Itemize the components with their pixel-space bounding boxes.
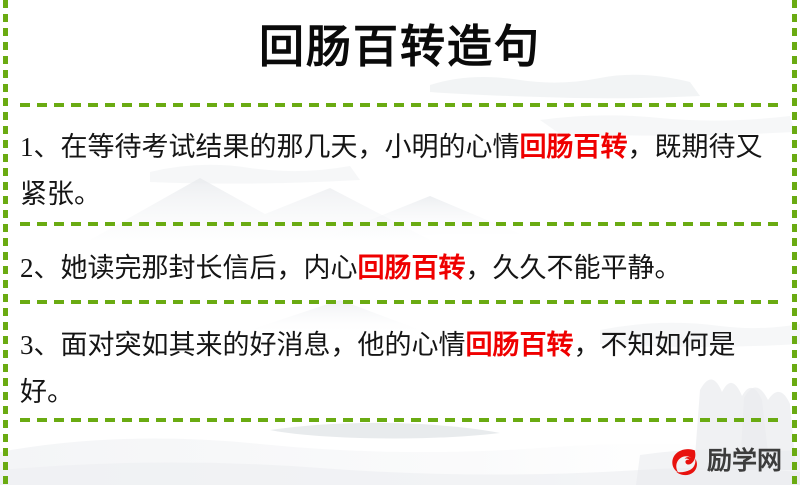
sentence-item-3: 3、面对突如其来的好消息，他的心情回肠百转，不知如何是好。 (20, 322, 782, 415)
idiom-highlight-1: 回肠百转 (520, 132, 628, 163)
separator-bottom (20, 418, 780, 422)
page-root: 回肠百转造句 1、在等待考试结果的那几天，小明的心情回肠百转，既期待又紧张。 2… (0, 0, 800, 485)
sentence-index-1: 1、 (20, 132, 61, 162)
sentence-item-1: 1、在等待考试结果的那几天，小明的心情回肠百转，既期待又紧张。 (20, 124, 782, 217)
separator-2 (20, 300, 780, 304)
page-title: 回肠百转造句 (0, 18, 800, 76)
watermark-logo: 励学网 (668, 444, 782, 478)
watermark-site-name: 励学网 (707, 447, 782, 475)
sentence-text-before-2: 她读完那封长信后，内心 (61, 253, 358, 283)
idiom-highlight-3: 回肠百转 (466, 330, 574, 361)
sentence-text-before-3: 面对突如其来的好消息，他的心情 (61, 330, 466, 360)
flame-swirl-icon (668, 444, 702, 478)
sentence-text-before-1: 在等待考试结果的那几天，小明的心情 (61, 132, 520, 162)
sentence-text-after-2: ，久久不能平静。 (466, 253, 682, 283)
sentence-index-2: 2、 (20, 253, 61, 283)
sentence-index-3: 3、 (20, 330, 61, 360)
separator-top (20, 103, 780, 107)
idiom-highlight-2: 回肠百转 (358, 253, 466, 284)
separator-1 (20, 222, 780, 226)
sentence-item-2: 2、她读完那封长信后，内心回肠百转，久久不能平静。 (20, 245, 782, 292)
